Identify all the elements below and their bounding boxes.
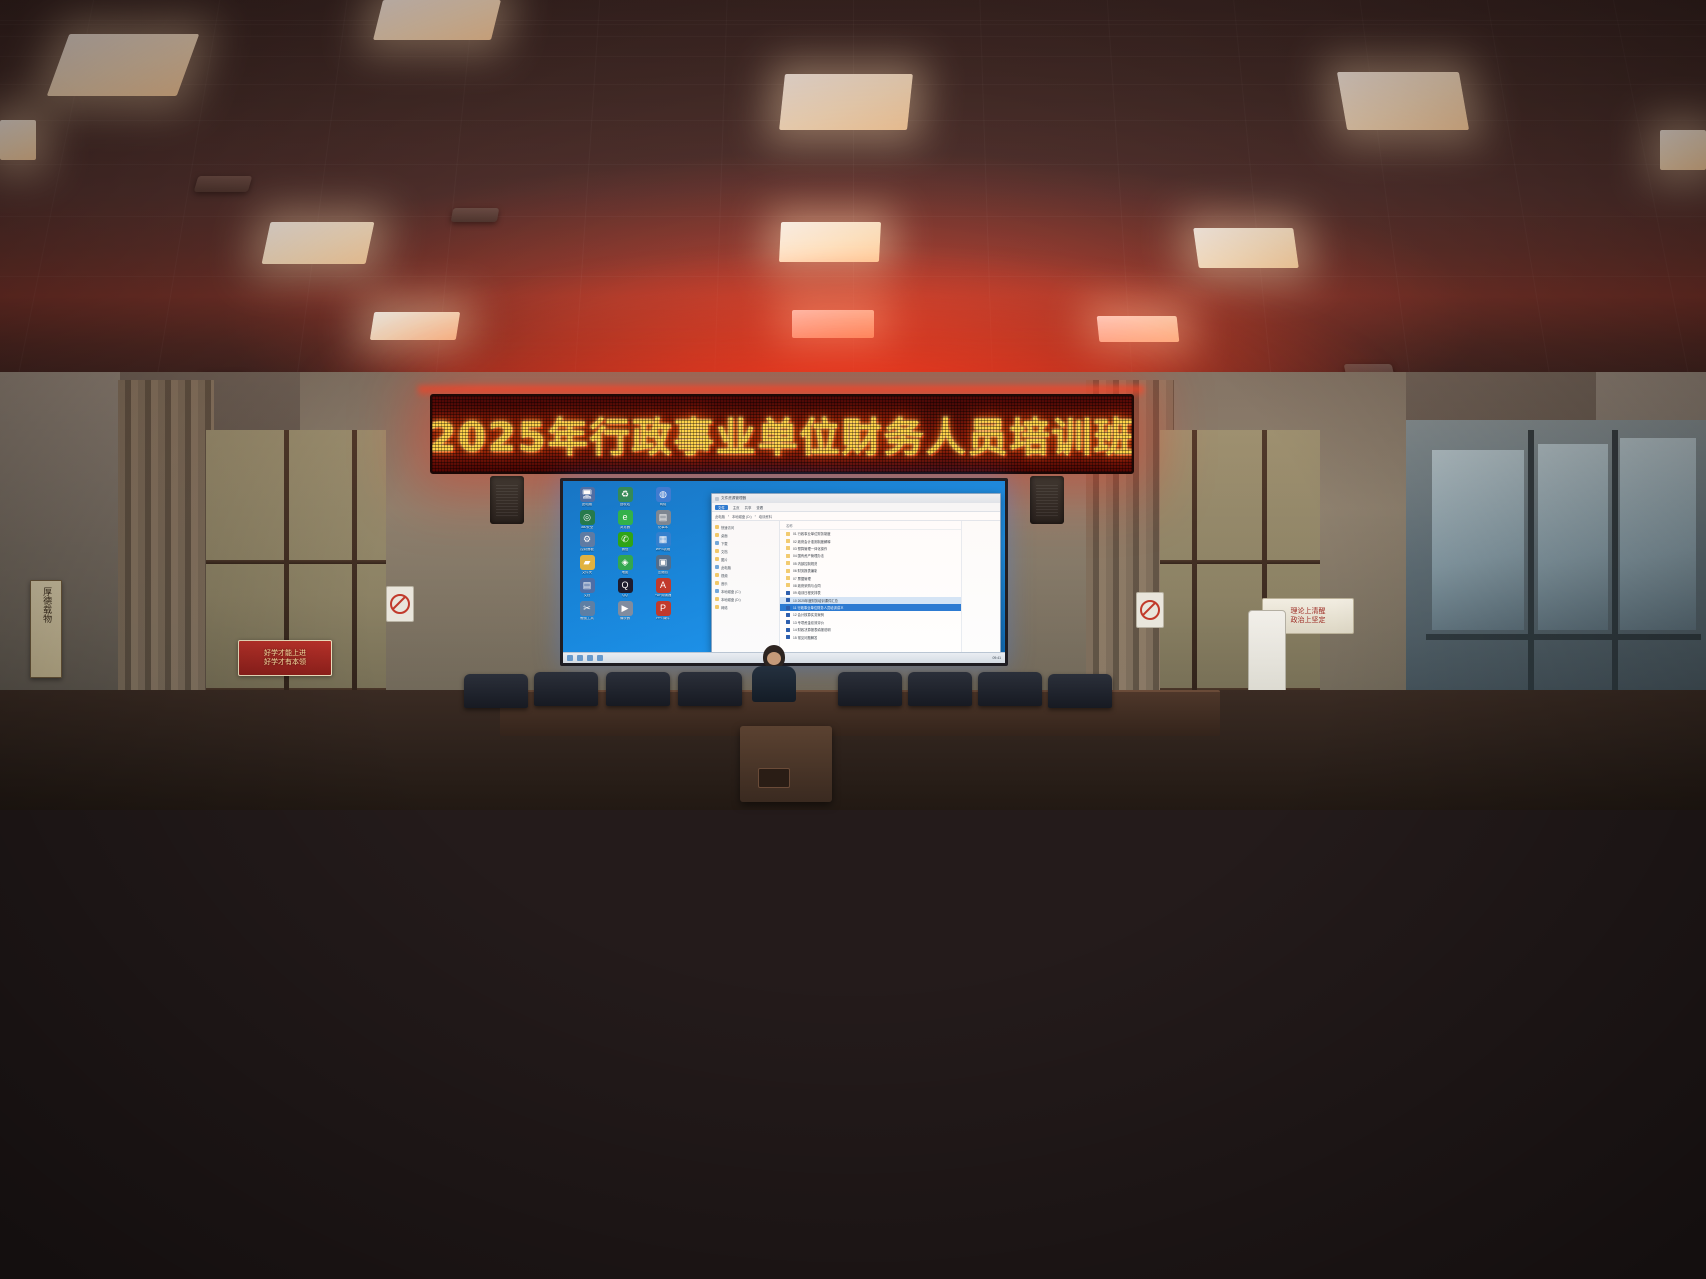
nav-item[interactable]: 本地磁盘 (C:) — [715, 587, 777, 595]
nav-item[interactable]: 本地磁盘 (D:) — [715, 595, 777, 603]
right-banner-line2: 政治上坚定 — [1291, 616, 1326, 624]
file-list-header: 名称 — [780, 523, 961, 530]
window-mullion — [1528, 430, 1534, 730]
ceiling-vent — [194, 176, 253, 192]
address-bar[interactable]: 此电脑›本地磁盘 (D:)›培训资料 — [712, 512, 1000, 521]
document-icon — [786, 635, 790, 639]
file-row[interactable]: 11 行政事业单位财务人员培训讲义 — [780, 604, 961, 611]
file-name: 05 内部控制规范 — [793, 561, 817, 566]
ceiling-panel-light — [1660, 130, 1706, 170]
nav-item-label: 音乐 — [721, 581, 728, 586]
desktop-icon[interactable]: ▶播放器 — [607, 601, 643, 621]
desktop-icon-label: QQ — [622, 594, 627, 598]
taskbar-icon[interactable] — [597, 655, 603, 661]
document-icon — [786, 598, 790, 602]
nav-item[interactable]: 图片 — [715, 555, 777, 563]
file-name: 13 专项资金绩效评价 — [793, 620, 824, 625]
wall-pillar — [352, 430, 357, 690]
desktop-icon[interactable]: APDF阅读器 — [645, 578, 681, 598]
nav-item-label: 图片 — [721, 557, 728, 562]
speaker-left — [490, 476, 524, 524]
ceiling-panel-light — [779, 74, 913, 130]
folder-icon — [786, 569, 790, 573]
windows-desktop: 🖥此电脑♻回收站◍网络◎360安全e浏览器▤记事本⚙控制面板✆微信▦WPS表格▰… — [563, 481, 1005, 663]
file-name: 14 财政决算报表填报说明 — [793, 627, 831, 632]
breadcrumb-segment[interactable]: 培训资料 — [759, 514, 772, 519]
desktop-icon[interactable]: ⚙控制面板 — [569, 532, 605, 552]
document-icon — [786, 591, 790, 595]
file-name: 10 2025年度财务培训课件汇总 — [793, 598, 838, 603]
folder-icon — [715, 541, 719, 545]
no-smoking-icon — [390, 594, 410, 614]
left-wall-panel — [206, 430, 386, 730]
breadcrumb-separator: › — [755, 514, 756, 518]
file-list[interactable]: 名称 01 行政事业单位财务制度02 政府会计准则制度解释03 预算管理一体化操… — [780, 521, 961, 652]
folder-icon — [715, 589, 719, 593]
nav-item[interactable]: 此电脑 — [715, 563, 777, 571]
nav-item[interactable]: 文档 — [715, 547, 777, 555]
folder-icon — [786, 532, 790, 536]
file-row[interactable]: 08 政府采购与合同 — [780, 582, 961, 589]
audience-area — [0, 690, 1706, 1279]
folder-icon — [715, 605, 719, 609]
folder-icon — [715, 525, 719, 529]
file-rows[interactable]: 01 行政事业单位财务制度02 政府会计准则制度解释03 预算管理一体化操作04… — [780, 530, 961, 641]
desktop-icon[interactable]: ▤记事本 — [645, 510, 681, 530]
网络-icon: ◍ — [656, 487, 671, 502]
no-smoking-sign — [386, 586, 414, 622]
desktop-icon[interactable]: PPPT课件 — [645, 601, 681, 621]
播放器-icon: ▶ — [618, 601, 633, 616]
taskbar-icon[interactable] — [577, 655, 583, 661]
nav-item[interactable]: 音乐 — [715, 579, 777, 587]
文档-icon: ▤ — [580, 578, 595, 593]
desktop-icon-label: 截图工具 — [580, 617, 594, 621]
desktop-icon-label: 压缩包 — [658, 571, 668, 575]
file-name: 08 政府采购与合同 — [793, 583, 821, 588]
WPS表格-icon: ▦ — [656, 532, 671, 547]
folder-icon — [715, 565, 719, 569]
folder-icon — [786, 546, 790, 550]
ribbon-tab[interactable]: 主页 — [733, 505, 740, 510]
folder-icon — [786, 539, 790, 543]
desktop-icon-label: 回收站 — [620, 503, 630, 507]
folder-icon — [786, 583, 790, 587]
nav-item[interactable]: 桌面 — [715, 531, 777, 539]
folder-icon — [715, 597, 719, 601]
file-row[interactable]: 15 常见问题解答 — [780, 633, 961, 640]
file-row[interactable]: 01 行政事业单位财务制度 — [780, 530, 961, 537]
scroll-left-text: 厚德载物 — [40, 581, 52, 623]
breadcrumb-segment[interactable]: 本地磁盘 (D:) — [732, 514, 752, 519]
ceiling — [0, 0, 1706, 400]
file-name: 09 培训日程安排表 — [793, 590, 821, 595]
nav-item[interactable]: 快速访问 — [715, 523, 777, 531]
nav-item[interactable]: 网络 — [715, 603, 777, 611]
desktop-icon-label: 浏览器 — [620, 526, 630, 530]
截图工具-icon: ✂ — [580, 601, 595, 616]
desktop-icon[interactable]: ◎360安全 — [569, 510, 605, 530]
presenter-face — [767, 652, 781, 665]
desktop-icon[interactable]: ▤文档 — [569, 578, 605, 598]
left-banner-text: 好学才能上进 好学才有本领 — [264, 649, 306, 667]
desktop-icon-grid: 🖥此电脑♻回收站◍网络◎360安全e浏览器▤记事本⚙控制面板✆微信▦WPS表格▰… — [569, 487, 681, 620]
控制面板-icon: ⚙ — [580, 532, 595, 547]
file-row[interactable]: 14 财政决算报表填报说明 — [780, 626, 961, 633]
desktop-icon-label: 文档 — [584, 594, 591, 598]
details-pane — [961, 521, 1000, 652]
file-explorer-window[interactable]: 文件资源管理器 文件主页共享查看 此电脑›本地磁盘 (D:)›培训资料 快速访问… — [711, 493, 1001, 653]
地图-icon: ◈ — [618, 555, 633, 570]
file-name: 02 政府会计准则制度解释 — [793, 539, 831, 544]
led-banner-text: 2025年行政事业单位财务人员培训班 — [430, 405, 1134, 463]
desktop-icon[interactable]: ▣压缩包 — [645, 555, 681, 575]
desktop-icon-label: 控制面板 — [580, 548, 594, 552]
ceiling-panel-light — [1337, 72, 1469, 130]
file-row[interactable]: 12 会计核算实务案例 — [780, 611, 961, 618]
wall-trim — [1160, 560, 1320, 564]
right-windows — [1406, 420, 1706, 730]
desktop-icon[interactable]: ✆微信 — [607, 532, 643, 552]
wall-pillar — [1192, 430, 1197, 690]
desktop-icon-label: 播放器 — [620, 617, 630, 621]
desktop-icon-label: 微信 — [622, 548, 629, 552]
nav-item-label: 视频 — [721, 573, 728, 578]
ribbon-tab[interactable]: 文件 — [715, 505, 728, 510]
desktop-icon[interactable]: ◍网络 — [645, 487, 681, 507]
desktop-icon[interactable]: ◈地图 — [607, 555, 643, 575]
folder-icon — [786, 576, 790, 580]
nav-item-label: 此电脑 — [721, 565, 731, 570]
window-pane — [1538, 444, 1608, 630]
file-row[interactable]: 05 内部控制规范 — [780, 560, 961, 567]
微信-icon: ✆ — [618, 532, 633, 547]
window-titlebar[interactable]: 文件资源管理器 — [712, 494, 1000, 503]
desktop-icon-label: 地图 — [622, 571, 629, 575]
file-row[interactable]: 02 政府会计准则制度解释 — [780, 537, 961, 544]
ceiling-panel-light — [0, 120, 36, 160]
desktop-icon[interactable]: 🖥此电脑 — [569, 487, 605, 507]
left-curtain — [118, 380, 214, 720]
file-name: 12 会计核算实务案例 — [793, 612, 824, 617]
回收站-icon: ♻ — [618, 487, 633, 502]
desktop-icon[interactable]: ▦WPS表格 — [645, 532, 681, 552]
file-name: 03 预算管理一体化操作 — [793, 546, 827, 551]
file-row[interactable]: 03 预算管理一体化操作 — [780, 545, 961, 552]
文件夹-icon: ▰ — [580, 555, 595, 570]
right-wall-panel — [1160, 430, 1320, 730]
start-button[interactable] — [567, 655, 573, 661]
PDF阅读器-icon: A — [656, 578, 671, 593]
file-row[interactable]: 04 国有资产管理办法 — [780, 552, 961, 559]
nav-item[interactable]: 视频 — [715, 571, 777, 579]
window-mullion — [1612, 430, 1618, 730]
left-banner-line1: 好学才能上进 — [264, 649, 306, 657]
led-banner: 2025年行政事业单位财务人员培训班 — [430, 394, 1134, 474]
file-row[interactable]: 13 专项资金绩效评价 — [780, 619, 961, 626]
explorer-body: 快速访问桌面下载文档图片此电脑视频音乐本地磁盘 (C:)本地磁盘 (D:)网络 … — [712, 521, 1000, 652]
left-banner-line2: 好学才有本领 — [264, 658, 306, 666]
folder-icon — [715, 573, 719, 577]
ribbon-tab[interactable]: 共享 — [745, 505, 752, 510]
nav-item-label: 文档 — [721, 549, 728, 554]
window-icon — [715, 497, 719, 501]
desktop-icon-label: 360安全 — [581, 526, 593, 530]
nav-item[interactable]: 下载 — [715, 539, 777, 547]
file-row[interactable]: 07 票据管理 — [780, 574, 961, 581]
nav-item-label: 网络 — [721, 605, 728, 610]
ribbon-tabs[interactable]: 文件主页共享查看 — [712, 503, 1000, 512]
360安全-icon: ◎ — [580, 510, 595, 525]
file-name: 15 常见问题解答 — [793, 635, 817, 640]
left-wall-banner: 好学才能上进 好学才有本领 — [238, 640, 332, 676]
navigation-pane[interactable]: 快速访问桌面下载文档图片此电脑视频音乐本地磁盘 (C:)本地磁盘 (D:)网络 — [712, 521, 780, 652]
wall-trim — [206, 560, 386, 564]
breadcrumb-segment[interactable]: 此电脑 — [715, 514, 725, 519]
desktop-icon[interactable]: ♻回收站 — [607, 487, 643, 507]
desktop-icon-label: 文件夹 — [582, 571, 592, 575]
desktop-icon-label: 记事本 — [658, 526, 668, 530]
nav-item-label: 本地磁盘 (C:) — [721, 589, 741, 594]
desktop-icon-label: WPS表格 — [656, 548, 671, 552]
window-pane — [1432, 450, 1524, 630]
folder-icon — [715, 549, 719, 553]
浏览器-icon: e — [618, 510, 633, 525]
window-title: 文件资源管理器 — [721, 496, 746, 501]
desktop-icon[interactable]: QQQ — [607, 578, 643, 598]
desktop-icon[interactable]: ▰文件夹 — [569, 555, 605, 575]
desktop-icon-label: 网络 — [660, 503, 667, 507]
ribbon-tab[interactable]: 查看 — [756, 505, 763, 510]
file-name: 06 财务报表编制 — [793, 568, 817, 573]
no-smoking-icon — [1140, 600, 1160, 620]
folder-icon — [786, 561, 790, 565]
folder-icon — [715, 533, 719, 537]
file-row[interactable]: 06 财务报表编制 — [780, 567, 961, 574]
QQ-icon: Q — [618, 578, 633, 593]
folder-icon — [715, 557, 719, 561]
此电脑-icon: 🖥 — [580, 487, 595, 502]
no-smoking-sign — [1136, 592, 1164, 628]
nav-item-label: 本地磁盘 (D:) — [721, 597, 741, 602]
ceiling-vent — [451, 208, 499, 222]
PPT课件-icon: P — [656, 601, 671, 616]
projection-screen: 🖥此电脑♻回收站◍网络◎360安全e浏览器▤记事本⚙控制面板✆微信▦WPS表格▰… — [560, 478, 1008, 666]
folder-icon — [786, 554, 790, 558]
document-icon — [786, 606, 790, 610]
desktop-icon[interactable]: e浏览器 — [607, 510, 643, 530]
taskbar-clock: 09:41 — [993, 656, 1002, 660]
taskbar-icon[interactable] — [587, 655, 593, 661]
right-banner-text: 理论上清醒 政治上坚定 — [1291, 607, 1326, 625]
document-icon — [786, 620, 790, 624]
ceiling-panel-light — [373, 0, 501, 40]
file-name: 07 票据管理 — [793, 576, 811, 581]
file-name: 01 行政事业单位财务制度 — [793, 531, 831, 536]
desktop-icon-label: 此电脑 — [582, 503, 592, 507]
document-icon — [786, 613, 790, 617]
right-banner-line1: 理论上清醒 — [1291, 607, 1326, 615]
file-row[interactable]: 10 2025年度财务培训课件汇总 — [780, 597, 961, 604]
desktop-icon[interactable]: ✂截图工具 — [569, 601, 605, 621]
压缩包-icon: ▣ — [656, 555, 671, 570]
breadcrumb-separator: › — [728, 514, 729, 518]
folder-icon — [715, 581, 719, 585]
file-row[interactable]: 09 培训日程安排表 — [780, 589, 961, 596]
file-name: 11 行政事业单位财务人员培训讲义 — [793, 605, 844, 610]
nav-item-label: 下载 — [721, 541, 728, 546]
nav-item-label: 桌面 — [721, 533, 728, 538]
ceiling-panel-light — [47, 34, 200, 96]
记事本-icon: ▤ — [656, 510, 671, 525]
nav-item-label: 快速访问 — [721, 525, 734, 530]
desktop-icon-label: PDF阅读器 — [655, 594, 672, 598]
document-icon — [786, 628, 790, 632]
photo-scene: 厚德载物 宁静致远 2025年行政事业单位财务人员培训班 🖥此电脑♻回收站◍网络… — [0, 0, 1706, 1279]
speaker-right — [1030, 476, 1064, 524]
window-mullion — [1426, 634, 1701, 640]
desktop-icon-label: PPT课件 — [656, 617, 669, 621]
file-name: 04 国有资产管理办法 — [793, 553, 824, 558]
scroll-artwork-left: 厚德载物 — [30, 580, 62, 678]
window-pane — [1620, 438, 1696, 630]
